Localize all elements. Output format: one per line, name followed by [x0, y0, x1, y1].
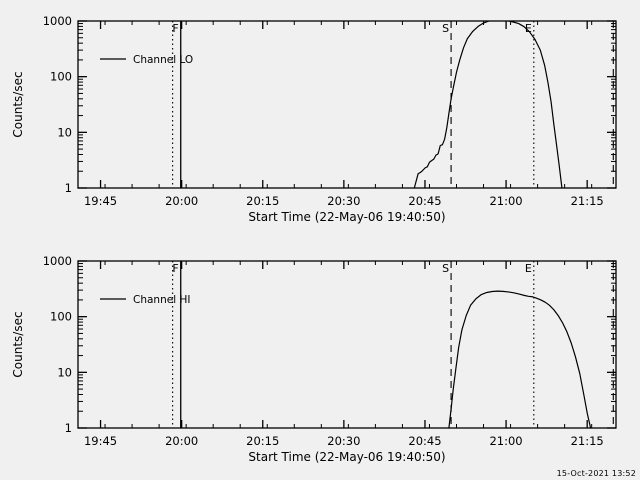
y-tick-label: 1: [65, 181, 72, 195]
x-tick-label: 21:00: [489, 434, 522, 448]
x-tick-label: 20:00: [165, 434, 198, 448]
x-tick-label: 20:15: [246, 434, 279, 448]
x-tick-label: 20:45: [408, 434, 441, 448]
x-tick-label: 21:00: [489, 194, 522, 208]
y-tick-label: 1: [65, 421, 72, 435]
x-tick-label: 19:45: [84, 434, 117, 448]
y-tick-label: 10: [57, 125, 72, 139]
x-tick-label: 20:30: [327, 434, 360, 448]
vertical-marker-label-e: E: [525, 262, 532, 275]
x-tick-label: 21:15: [571, 434, 604, 448]
y-tick-label: 100: [50, 70, 72, 84]
x-tick-label: 20:00: [165, 194, 198, 208]
y-axis-title: Counts/sec: [11, 71, 25, 137]
legend-label-lo: Channel LO: [133, 54, 193, 66]
plot-panel-lo: RHESSI PARTICLE_RATE Channel: LO FSE1000…: [0, 0, 640, 240]
plot-canvas-hi: FSE100010010119:4520:0020:1520:3020:4521…: [0, 240, 640, 480]
vertical-marker-label-s: S: [442, 262, 449, 275]
vertical-marker-label-s: S: [442, 22, 449, 35]
x-tick-label: 20:15: [246, 194, 279, 208]
y-tick-label: 10: [57, 365, 72, 379]
x-axis-title: Start Time (22-May-06 19:40:50): [248, 210, 445, 224]
vertical-marker-label-f: F: [172, 22, 178, 35]
x-axis-title: Start Time (22-May-06 19:40:50): [248, 450, 445, 464]
render-timestamp: 15-Oct-2021 13:52: [557, 469, 636, 478]
x-tick-label: 19:45: [84, 194, 117, 208]
plot-panel-hi: RHESSI PARTICLE_RATE Channel: HI FSE1000…: [0, 240, 640, 480]
y-tick-label: 100: [50, 310, 72, 324]
x-tick-label: 21:15: [571, 194, 604, 208]
x-tick-label: 20:45: [408, 194, 441, 208]
vertical-marker-label-f: F: [172, 262, 178, 275]
plot-canvas-lo: FSE100010010119:4520:0020:1520:3020:4521…: [0, 0, 640, 240]
y-tick-label: 1000: [43, 254, 72, 268]
y-tick-label: 1000: [43, 14, 72, 28]
y-axis-title: Counts/sec: [11, 311, 25, 377]
x-tick-label: 20:30: [327, 194, 360, 208]
legend-label-hi: Channel HI: [133, 294, 190, 306]
